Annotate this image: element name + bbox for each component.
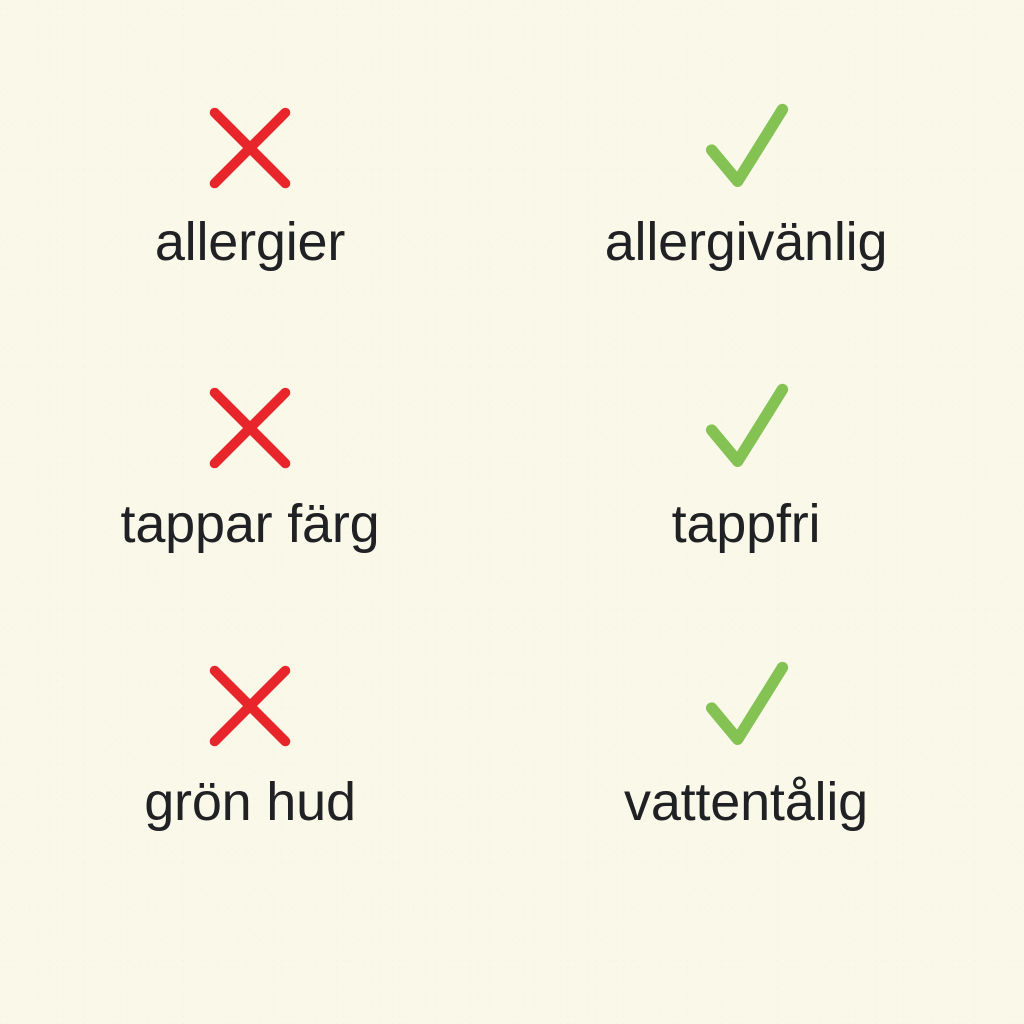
cross-icon (198, 376, 302, 480)
comparison-cell-positive-3: vattentålig (490, 652, 1002, 930)
comparison-label: allergier (155, 214, 345, 271)
comparison-cell-negative-2: tappar färg (0, 374, 506, 652)
comparison-cell-negative-3: grön hud (0, 652, 506, 930)
comparison-label: allergivänlig (605, 214, 888, 271)
check-icon (694, 654, 798, 758)
comparison-label: grön hud (144, 774, 356, 831)
comparison-grid: allergier allergivänlig tappar färg (0, 0, 1024, 1024)
cross-icon (198, 654, 302, 758)
comparison-label: vattentålig (624, 774, 868, 831)
check-icon (694, 376, 798, 480)
cross-icon (198, 96, 302, 200)
check-icon (694, 96, 798, 200)
comparison-label: tappar färg (121, 496, 380, 553)
comparison-cell-positive-2: tappfri (490, 374, 1002, 652)
comparison-label: tappfri (672, 496, 821, 553)
comparison-cell-positive-1: allergivänlig (490, 96, 1002, 374)
comparison-cell-negative-1: allergier (0, 96, 506, 374)
